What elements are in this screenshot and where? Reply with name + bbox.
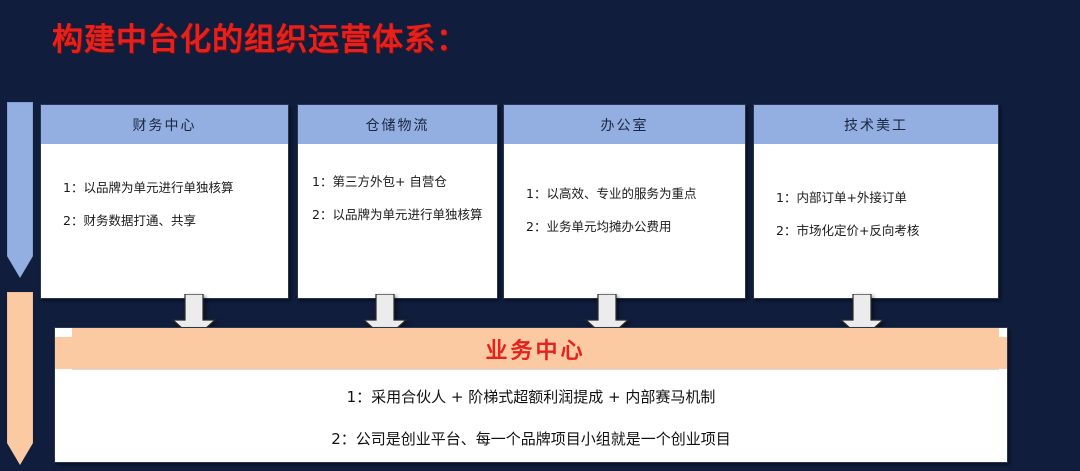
business-center-panel[interactable]: 业务中心 1：采用合伙人 + 阶梯式超额利润提成 + 内部赛马机制 2：公司是创… xyxy=(54,327,1008,463)
card-body: 1：以高效、专业的服务为重点 2：业务单元均摊办公费用 xyxy=(504,145,745,298)
card-office[interactable]: 办公室 1：以高效、专业的服务为重点 2：业务单元均摊办公费用 xyxy=(503,104,746,299)
card-title: 仓储物流 xyxy=(366,115,430,135)
card-bullet: 2：财务数据打通、共享 xyxy=(63,214,288,227)
card-bullet: 2：以品牌为单元进行单独核算 xyxy=(312,208,497,221)
card-bullet: 2：业务单元均摊办公费用 xyxy=(526,220,745,233)
card-tech-design[interactable]: 技术美工 1：内部订单+外接订单 2：市场化定价+反向考核 xyxy=(753,104,999,299)
peach-arrow-shaft xyxy=(7,292,33,443)
card-body: 1：第三方外包+ 自营仓 2：以品牌为单元进行单独核算 xyxy=(298,145,497,298)
page-title: 构建中台化的组织运营体系： xyxy=(52,14,468,59)
card-body: 1：以品牌为单元进行单独核算 2：财务数据打通、共享 xyxy=(41,145,288,298)
blue-down-arrow xyxy=(7,102,33,278)
card-warehouse-logistics[interactable]: 仓储物流 1：第三方外包+ 自营仓 2：以品牌为单元进行单独核算 xyxy=(297,104,498,299)
blue-arrow-shaft xyxy=(7,102,33,256)
business-center-body: 1：采用合伙人 + 阶梯式超额利润提成 + 内部赛马机制 2：公司是创业平台、每… xyxy=(55,370,1007,449)
card-bullet: 1：以品牌为单元进行单独核算 xyxy=(63,181,288,194)
card-title: 办公室 xyxy=(601,115,649,135)
card-header: 财务中心 xyxy=(41,105,288,145)
peach-arrow-head xyxy=(7,443,33,465)
card-finance-center[interactable]: 财务中心 1：以品牌为单元进行单独核算 2：财务数据打通、共享 xyxy=(40,104,289,299)
card-bullet: 1：第三方外包+ 自营仓 xyxy=(312,175,497,188)
card-title: 技术美工 xyxy=(844,115,908,135)
card-header: 技术美工 xyxy=(754,105,998,145)
card-body: 1：内部订单+外接订单 2：市场化定价+反向考核 xyxy=(754,145,998,298)
business-center-bullet: 1：采用合伙人 + 阶梯式超额利润提成 + 内部赛马机制 xyxy=(55,386,1007,407)
card-bullet: 1：内部订单+外接订单 xyxy=(776,191,998,204)
business-center-bullet: 2：公司是创业平台、每一个品牌项目小组就是一个创业项目 xyxy=(55,428,1007,449)
business-center-title: 业务中心 xyxy=(485,333,585,365)
card-bullet: 1：以高效、专业的服务为重点 xyxy=(526,187,745,200)
peach-down-arrow xyxy=(7,292,33,465)
card-header: 办公室 xyxy=(504,105,745,145)
header-notch-right xyxy=(999,337,1007,369)
card-title: 财务中心 xyxy=(133,115,197,135)
card-bullet: 2：市场化定价+反向考核 xyxy=(776,224,998,237)
card-header: 仓储物流 xyxy=(298,105,497,145)
slide-canvas: 构建中台化的组织运营体系： 财务中心 1：以品牌为单元进行单独核算 2：财务数据… xyxy=(0,0,1080,471)
business-center-header: 业务中心 xyxy=(72,328,999,370)
blue-arrow-head xyxy=(7,256,33,278)
header-notch-left xyxy=(55,337,72,369)
